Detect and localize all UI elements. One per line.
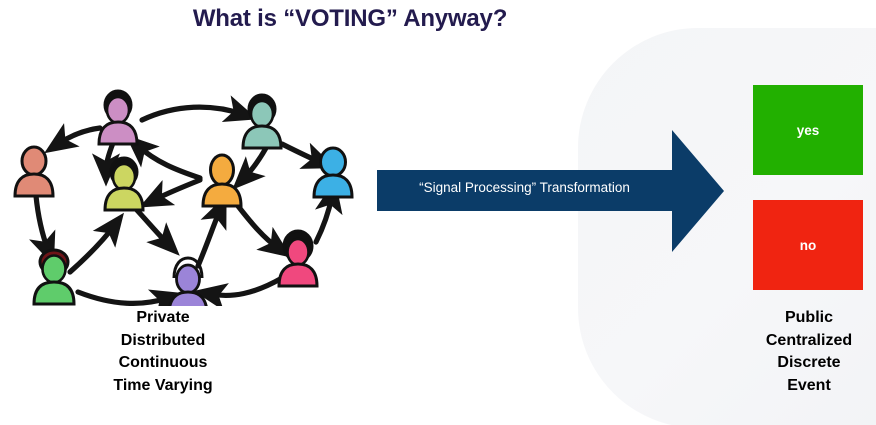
left-caption-line-2: Distributed: [83, 330, 243, 353]
link-pink-purple: [210, 278, 282, 295]
link-pink-blue: [316, 196, 332, 242]
slide-canvas: What is “VOTING” Anyway?: [0, 0, 876, 425]
right-caption-line-1: Public: [743, 307, 875, 330]
output-box-yes[interactable]: yes: [753, 85, 863, 175]
link-green-olive: [70, 226, 114, 272]
left-caption-line-1: Private: [83, 307, 243, 330]
link-salmon-green: [36, 196, 48, 250]
person-pink: [279, 231, 317, 286]
transform-arrow-label: “Signal Processing” Transformation: [377, 180, 672, 195]
person-green: [34, 250, 74, 304]
output-box-no-label: no: [800, 238, 817, 253]
right-caption-line-4: Event: [743, 375, 875, 398]
link-mauve-salmon: [58, 128, 100, 144]
link-orange-olive: [154, 180, 200, 200]
person-teal: [243, 95, 281, 148]
person-olive: [105, 158, 143, 210]
link-green-purple: [78, 292, 168, 303]
person-purple: [169, 258, 207, 306]
left-caption: Private Distributed Continuous Time Vary…: [83, 307, 243, 398]
link-orange-mauve: [138, 146, 200, 178]
link-teal-orange: [244, 148, 266, 178]
person-blue: [314, 148, 352, 197]
right-caption-line-2: Centralized: [743, 330, 875, 353]
right-caption-line-3: Discrete: [743, 352, 875, 375]
social-network-diagram: [0, 66, 376, 306]
right-caption: Public Centralized Discrete Event: [743, 307, 875, 398]
left-caption-line-3: Continuous: [83, 352, 243, 375]
left-caption-line-4: Time Varying: [83, 375, 243, 398]
link-purple-orange: [198, 210, 220, 266]
link-mauve-teal: [142, 107, 242, 120]
output-box-no[interactable]: no: [753, 200, 863, 290]
link-orange-pink: [238, 206, 278, 248]
page-title: What is “VOTING” Anyway?: [0, 5, 700, 33]
person-salmon: [15, 147, 53, 196]
link-teal-blue: [282, 144, 320, 162]
link-olive-purple: [135, 208, 168, 244]
output-box-yes-label: yes: [797, 123, 820, 138]
person-mauve: [99, 91, 137, 144]
person-orange: [203, 155, 241, 206]
